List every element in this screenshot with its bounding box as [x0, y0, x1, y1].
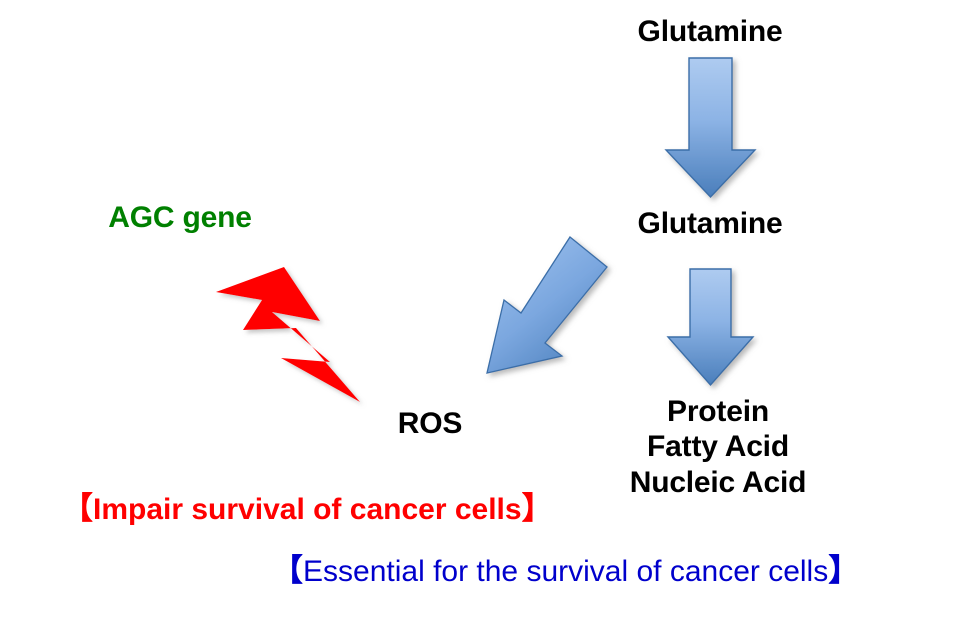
diagram-shapes-layer	[0, 0, 955, 621]
lightning-bolt-icon	[216, 267, 360, 402]
caption-essential-survival: 【Essential for the survival of cancer ce…	[272, 554, 859, 588]
product-line-protein: Protein	[630, 394, 807, 429]
product-line-fatty-acid: Fatty Acid	[630, 429, 807, 464]
node-label-ros: ROS	[398, 406, 462, 441]
close-bracket-glyph: 】	[828, 553, 859, 589]
caption-impair-text: Impair survival of cancer cells	[93, 493, 522, 526]
node-label-agc-gene: AGC gene	[108, 200, 251, 235]
down-arrow-icon-short	[668, 269, 753, 385]
down-arrow-icon-long	[666, 58, 755, 197]
caption-impair-survival: 【Impair survival of cancer cells】	[62, 492, 553, 526]
open-bracket-glyph: 【	[62, 491, 93, 527]
caption-essential-text: Essential for the survival of cancer cel…	[303, 555, 828, 588]
product-line-nucleic-acid: Nucleic Acid	[630, 465, 807, 500]
open-bracket-glyph: 【	[272, 553, 303, 589]
close-bracket-glyph: 】	[522, 491, 553, 527]
diagonal-down-left-arrow-icon	[487, 237, 607, 373]
node-label-glutamine-extracellular: Glutamine	[638, 14, 783, 49]
node-label-glutamine-intracellular: Glutamine	[638, 206, 783, 241]
diagram-canvas: Glutamine Glutamine AGC gene ROS Protein…	[0, 0, 955, 621]
node-label-products: Protein Fatty Acid Nucleic Acid	[630, 394, 807, 500]
